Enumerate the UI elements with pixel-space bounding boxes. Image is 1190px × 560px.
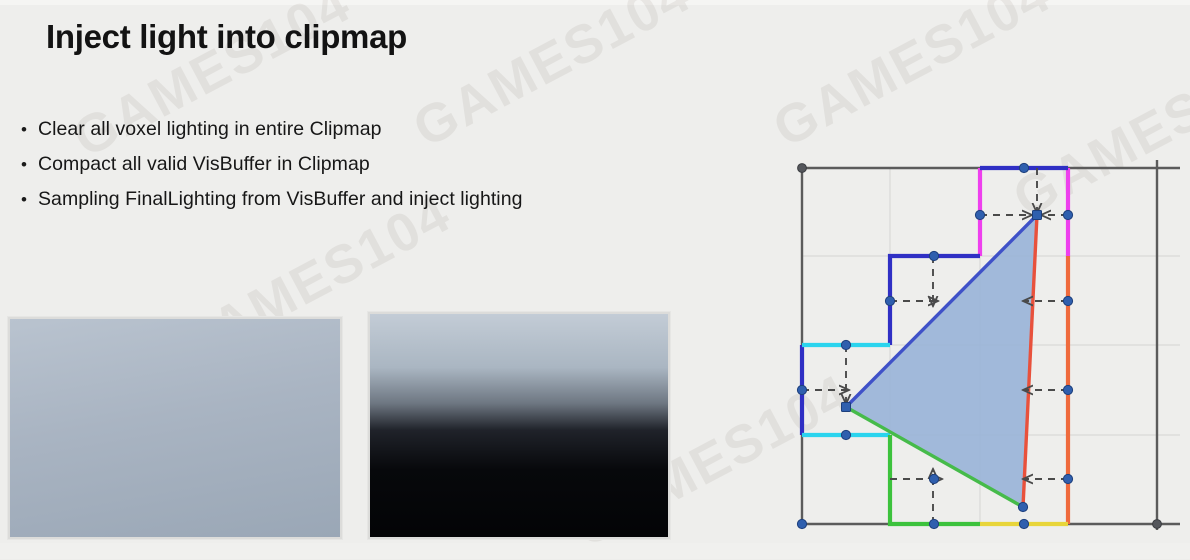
voxel-background xyxy=(370,314,668,537)
bullet-list: • Clear all voxel lighting in entire Cli… xyxy=(10,116,750,221)
page-title: Inject light into clipmap xyxy=(46,18,407,56)
top-band xyxy=(0,0,1190,5)
watermark-text: GAMES104 xyxy=(763,0,1061,160)
bullet-marker-icon: • xyxy=(10,151,38,178)
list-item-label: Sampling FinalLighting from VisBuffer an… xyxy=(38,186,522,212)
list-item: • Clear all voxel lighting in entire Cli… xyxy=(10,116,750,143)
list-item-label: Clear all voxel lighting in entire Clipm… xyxy=(38,116,382,142)
list-item-label: Compact all valid VisBuffer in Clipmap xyxy=(38,151,370,177)
clipmap-voxel-injection-diagram xyxy=(780,140,1190,550)
list-item: • Sampling FinalLighting from VisBuffer … xyxy=(10,186,750,213)
bullet-marker-icon: • xyxy=(10,186,38,213)
bullet-marker-icon: • xyxy=(10,116,38,143)
list-item: • Compact all valid VisBuffer in Clipmap xyxy=(10,151,750,178)
bench-background xyxy=(10,319,340,537)
voxel-render-image xyxy=(368,312,670,539)
slide-root: GAMES104 GAMES104 GAMES104 GAMES104 GAME… xyxy=(0,0,1190,559)
occluder-triangle xyxy=(846,215,1037,507)
bench-render-image xyxy=(8,317,342,539)
